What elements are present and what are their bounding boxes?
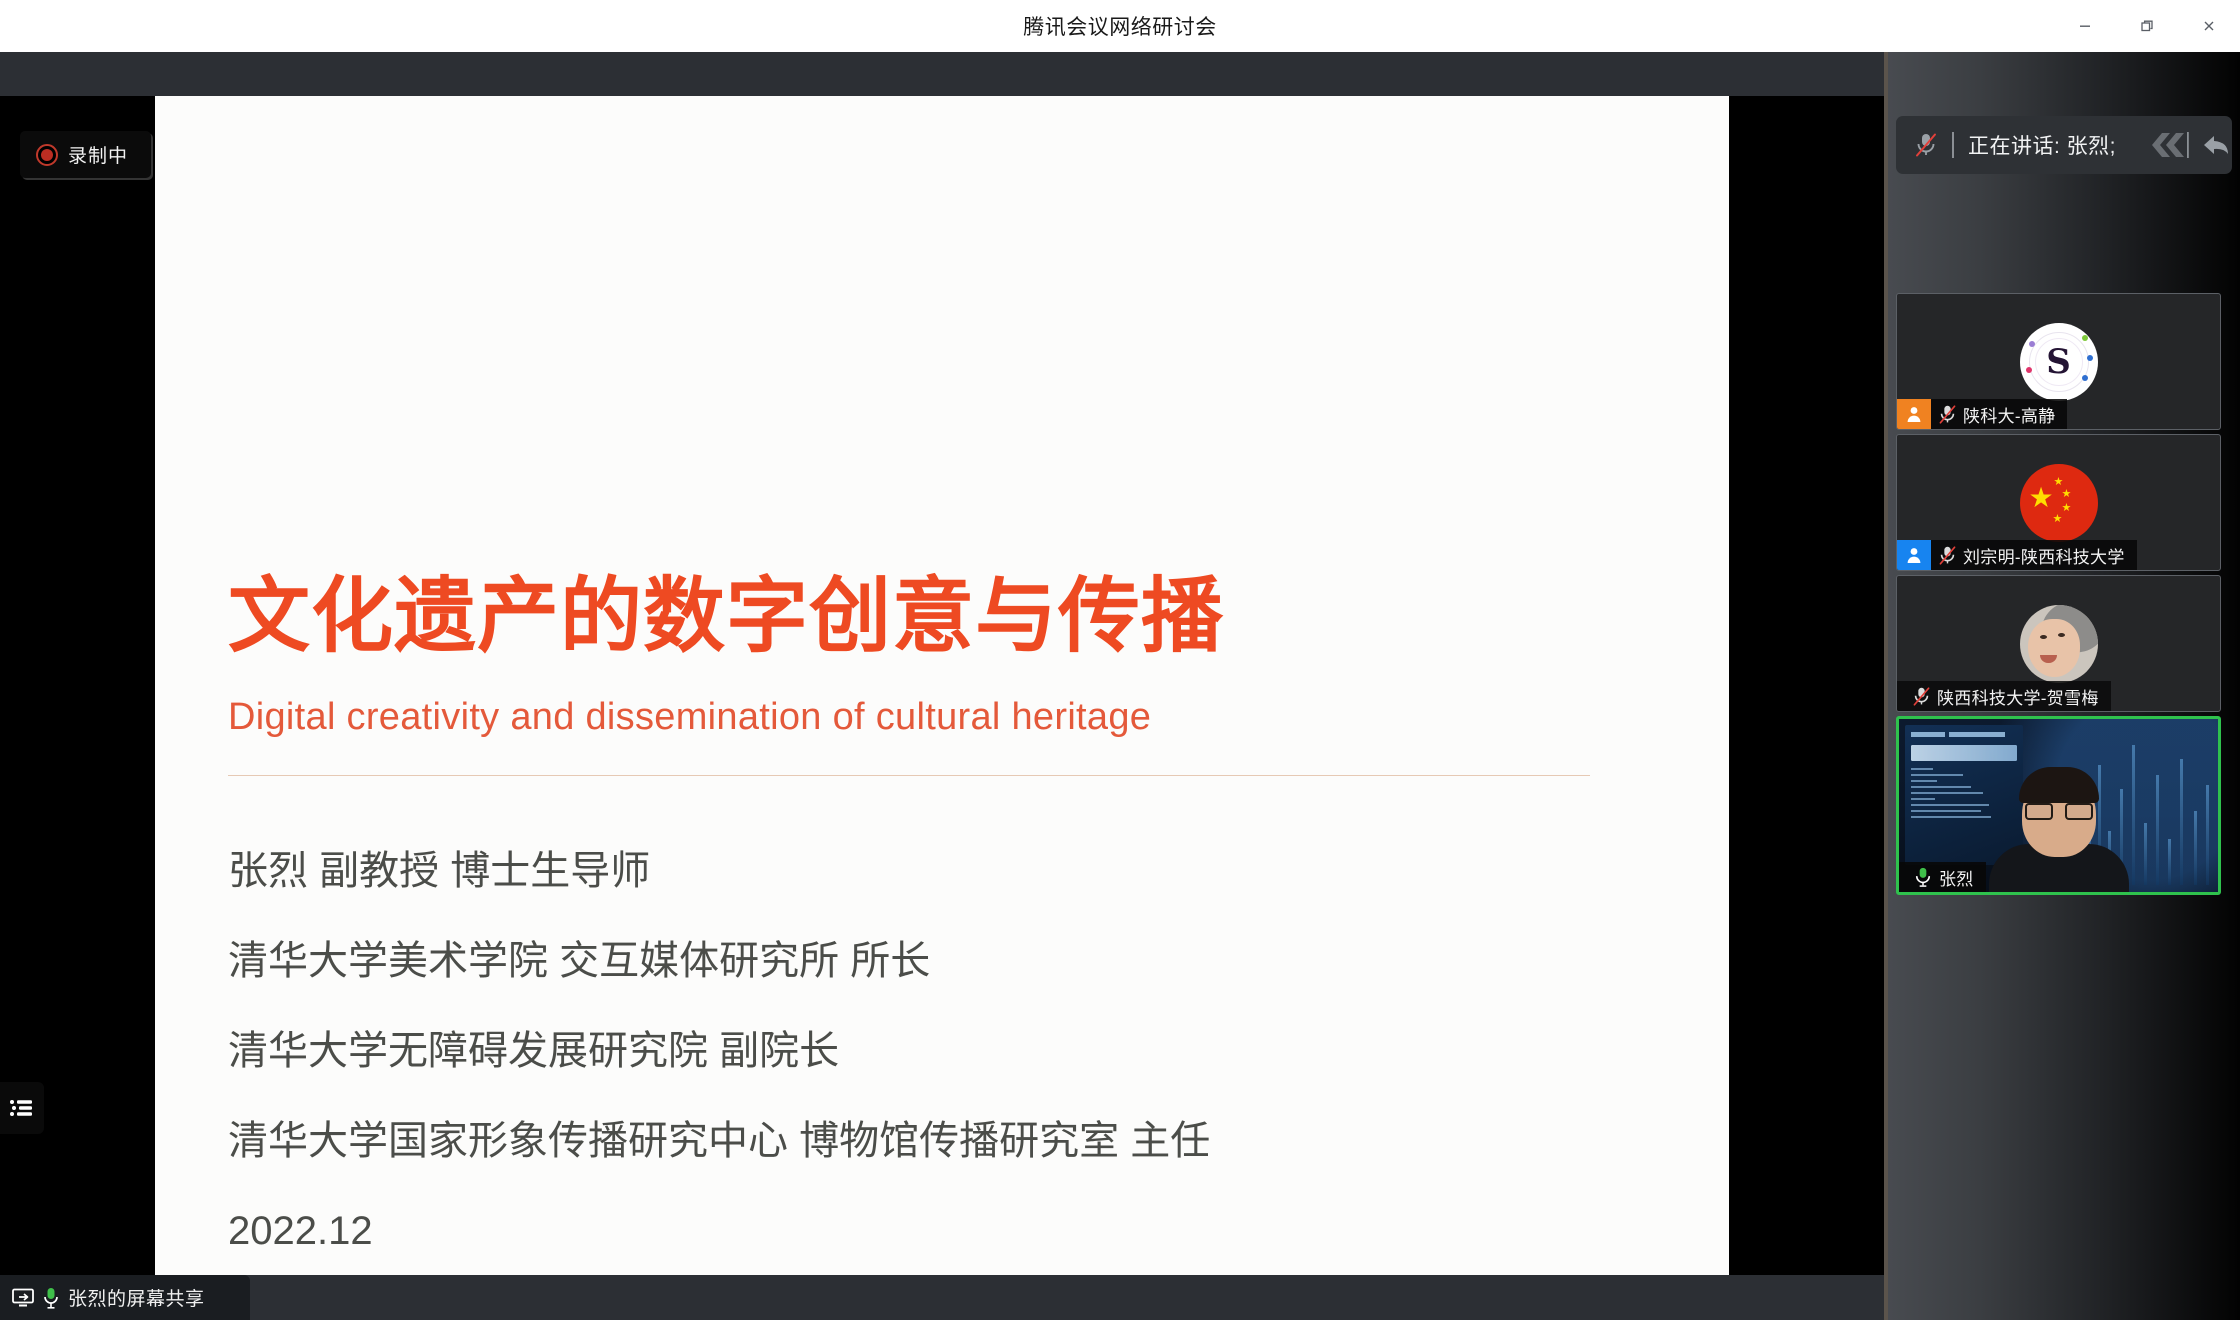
participant-name: 张烈 xyxy=(1939,865,1986,890)
tile-footer: 刘宗明-陕西科技大学 xyxy=(1897,540,2137,570)
participant-name: 陕科大-高静 xyxy=(1963,402,2067,427)
window-title: 腾讯会议网络研讨会 xyxy=(1023,11,1217,41)
avatar: S xyxy=(2020,323,2098,401)
banner-separator xyxy=(1952,132,1954,158)
microphone-on-icon xyxy=(43,1287,59,1309)
active-speaker-text: 正在讲话: 张烈; xyxy=(1968,130,2116,160)
list-view-button[interactable] xyxy=(0,1082,44,1134)
window-controls xyxy=(2054,0,2240,52)
minimize-button[interactable] xyxy=(2054,0,2116,52)
back-arrow-icon[interactable] xyxy=(2200,130,2234,160)
microphone-muted-icon xyxy=(1931,404,1963,425)
user-icon xyxy=(1897,540,1931,570)
microphone-muted-icon xyxy=(1931,545,1963,566)
shared-screen-slide[interactable]: 文化遗产的数字创意与传播 Digital creativity and diss… xyxy=(155,96,1729,1275)
screen-share-status-bar: 张烈的屏幕共享 xyxy=(0,1275,250,1320)
microphone-on-icon xyxy=(1907,865,1939,889)
participant-tile[interactable]: ★ ★ ★ ★ ★ 刘宗明-陕西科技大学 xyxy=(1896,434,2221,571)
participant-name: 陕西科技大学-贺雪梅 xyxy=(1937,684,2111,709)
slide-line-4: 清华大学国家形象传播研究中心 博物馆传播研究室 主任 xyxy=(228,1121,1628,1161)
tile-footer: 陕科大-高静 xyxy=(1897,399,2067,429)
close-icon xyxy=(2201,18,2217,34)
virtual-background-poster xyxy=(1905,725,2023,865)
slide-body: 张烈 副教授 博士生导师 清华大学美术学院 交互媒体研究所 所长 清华大学无障碍… xyxy=(228,851,1628,1275)
slide-title: 文化遗产的数字创意与传播 xyxy=(228,576,1224,658)
stage-top-band xyxy=(0,52,1888,96)
microphone-muted-icon xyxy=(1905,686,1937,707)
slide-line-1: 张烈 副教授 博士生导师 xyxy=(228,851,1628,891)
participant-tile-active-speaker[interactable]: 张烈 xyxy=(1896,716,2221,895)
slide-line-2: 清华大学美术学院 交互媒体研究所 所长 xyxy=(228,941,1628,981)
screen-share-label: 张烈的屏幕共享 xyxy=(68,1284,205,1311)
stage-bottom-band xyxy=(0,1275,1888,1320)
user-icon xyxy=(1897,399,1931,429)
avatar xyxy=(2020,605,2098,683)
avatar: ★ ★ ★ ★ ★ xyxy=(2020,464,2098,542)
slide-divider xyxy=(228,775,1590,776)
restore-button[interactable] xyxy=(2116,0,2178,52)
microphone-muted-icon xyxy=(1914,132,1938,158)
window-title-bar: 腾讯会议网络研讨会 xyxy=(0,0,2240,52)
recording-badge[interactable]: 录制中 xyxy=(20,131,151,178)
tile-footer: 张烈 xyxy=(1899,862,1986,892)
recording-label: 录制中 xyxy=(68,141,128,168)
slide-line-date: 2022.12 xyxy=(228,1211,1628,1251)
avatar-initial: S xyxy=(2046,342,2071,382)
participants-sidebar: 正在讲话: 张烈; S xyxy=(1888,52,2240,1320)
slide-subtitle: Digital creativity and dissemination of … xyxy=(228,696,1151,739)
participant-name: 刘宗明-陕西科技大学 xyxy=(1963,543,2137,568)
double-chevron-left-icon[interactable] xyxy=(2142,125,2198,165)
list-view-icon xyxy=(9,1097,35,1119)
banner-controls xyxy=(2142,116,2234,174)
participant-tile[interactable]: S 陕科大-高静 xyxy=(1896,293,2221,430)
screen-share-icon xyxy=(12,1288,34,1308)
restore-icon xyxy=(2139,18,2155,34)
record-dot-icon xyxy=(36,144,58,166)
minimize-icon xyxy=(2077,18,2093,34)
participant-tile[interactable]: 陕西科技大学-贺雪梅 xyxy=(1896,575,2221,712)
close-button[interactable] xyxy=(2178,0,2240,52)
tile-footer: 陕西科技大学-贺雪梅 xyxy=(1897,681,2111,711)
slide-line-3: 清华大学无障碍发展研究院 副院长 xyxy=(228,1031,1628,1071)
